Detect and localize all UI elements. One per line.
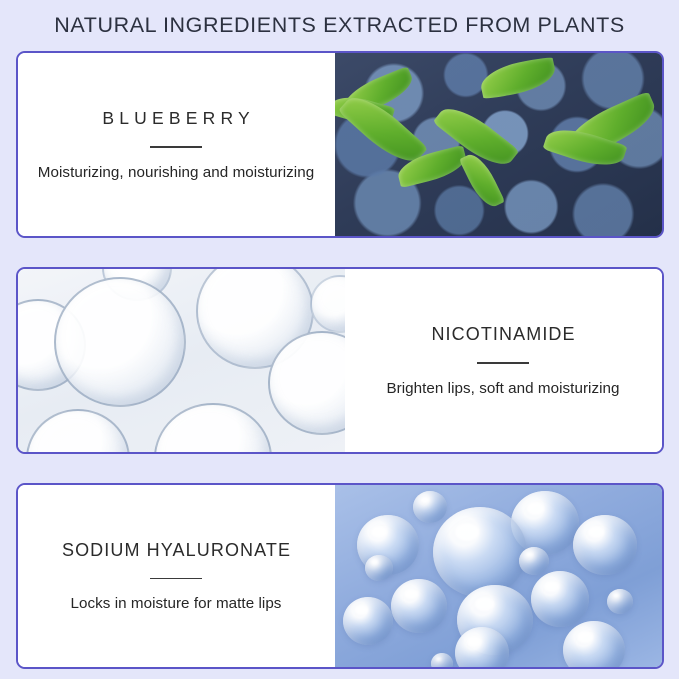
bubble-shape [26,409,130,452]
bubble-shape [531,571,589,627]
title-divider [477,362,529,364]
leaf-shape [477,55,558,100]
bubble-shape [343,597,393,645]
card-text-pane: SODIUM HYALURONATE Locks in moisture for… [18,485,335,667]
bubble-shape [54,277,186,407]
bubble-shape [433,507,527,597]
ingredient-card-sodium-hyaluronate: SODIUM HYALURONATE Locks in moisture for… [16,483,664,669]
clear-bubbles-image [18,269,345,452]
bubble-shape [413,491,447,523]
ingredient-name: BLUEBERRY [97,108,255,129]
ingredient-description: Locks in moisture for matte lips [71,595,282,612]
bubble-shape [431,653,453,667]
bubble-shape [365,555,393,581]
bubble-shape [519,547,549,575]
ingredients-infographic: NATURAL INGREDIENTS EXTRACTED FROM PLANT… [0,0,679,679]
ingredient-description: Moisturizing, nourishing and moisturizin… [38,164,314,181]
page-title: NATURAL INGREDIENTS EXTRACTED FROM PLANT… [54,13,625,39]
blueberries-image [335,53,662,236]
ingredient-description: Brighten lips, soft and moisturizing [386,380,619,397]
bubble-shape [310,275,345,333]
bubble-shape [607,589,633,614]
ingredient-card-blueberry: BLUEBERRY Moisturizing, nourishing and m… [16,51,664,238]
bubble-shape [563,621,625,667]
card-text-pane: BLUEBERRY Moisturizing, nourishing and m… [18,53,335,236]
ingredient-card-list: BLUEBERRY Moisturizing, nourishing and m… [16,51,664,669]
card-text-pane: NICOTINAMIDE Brighten lips, soft and moi… [345,269,662,452]
bubble-shape [154,403,272,452]
bubble-shape [573,515,637,575]
ingredient-name: SODIUM HYALURONATE [61,540,291,561]
blue-water-bubbles-image [335,485,662,667]
title-divider [150,578,202,580]
bubble-shape [391,579,447,633]
title-divider [150,146,202,148]
ingredient-card-nicotinamide: NICOTINAMIDE Brighten lips, soft and moi… [16,267,664,454]
ingredient-name: NICOTINAMIDE [430,324,575,345]
